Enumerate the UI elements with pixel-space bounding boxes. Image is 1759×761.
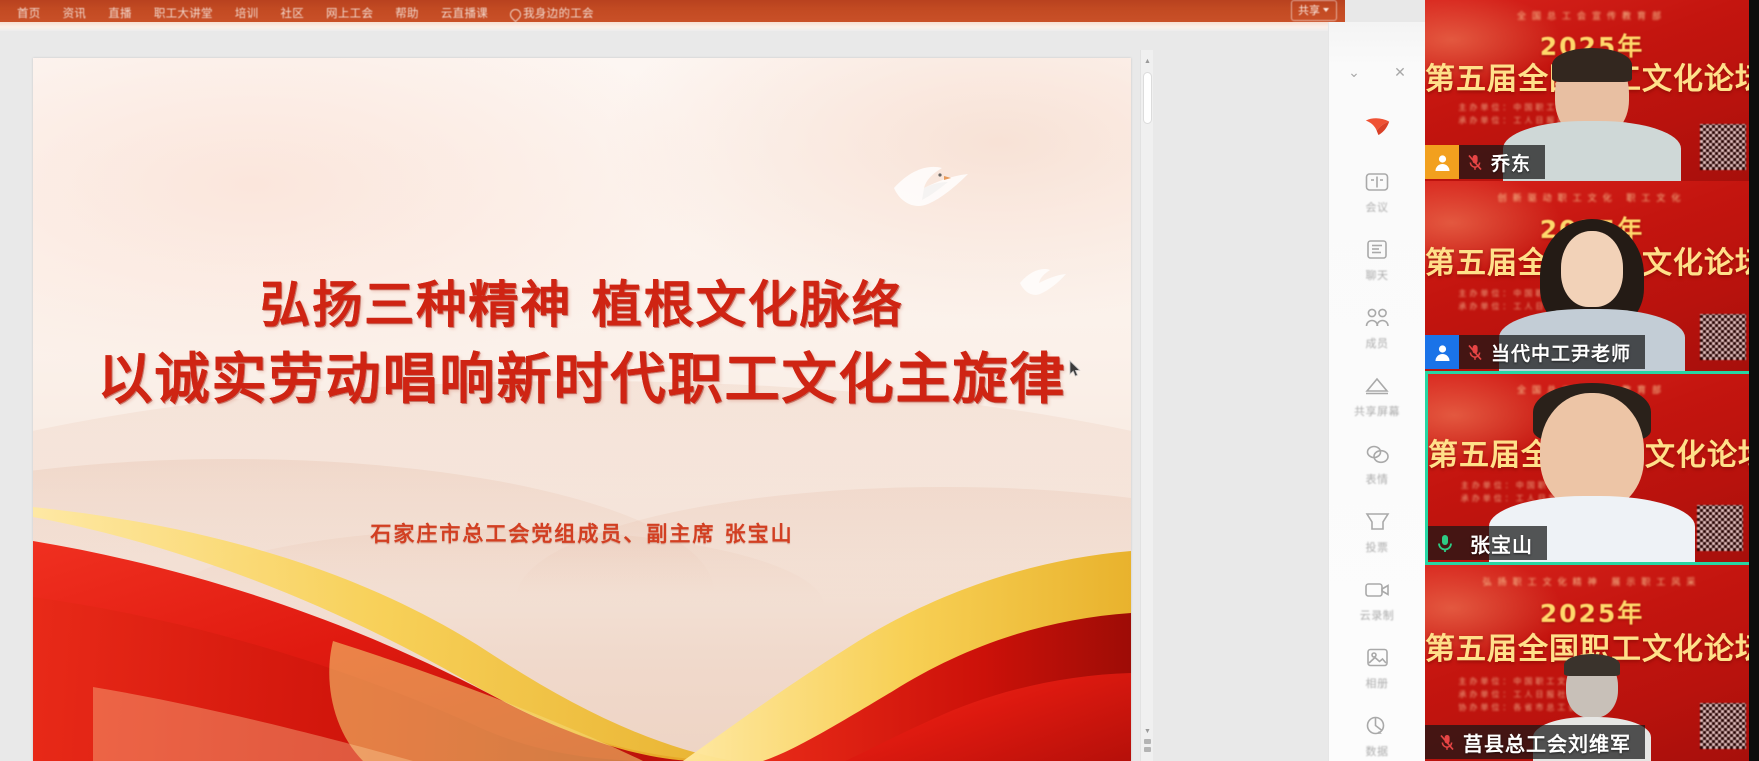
sidebar-item-reaction-label: 表情: [1366, 471, 1389, 487]
participant-tile-active-speaker[interactable]: 全国总工会宣传教育部 2025年 第五届全国职工文化论坛 主办单位：中国职工文化…: [1425, 371, 1759, 565]
sidebar-item-screen-share-label: 共享屏幕: [1354, 403, 1400, 419]
participant-nametag: 莒县总工会刘维军: [1425, 725, 1645, 759]
nav-item-4[interactable]: 培训: [224, 8, 270, 20]
scrollbar-grip-icon: [1144, 739, 1151, 755]
nav-item-1[interactable]: 资讯: [52, 8, 98, 20]
sidebar-item-stats[interactable]: 数据: [1329, 702, 1425, 761]
collapse-panel-button[interactable]: ⌄: [1345, 63, 1363, 81]
nav-item-0[interactable]: 首页: [6, 8, 52, 20]
sidebar-item-whiteboard[interactable]: 会议: [1329, 158, 1425, 226]
sidebar-item-record-label: 云录制: [1360, 607, 1395, 623]
topbar-right-group: 共享: [1291, 0, 1337, 21]
participant-tile[interactable]: 创新驱动职工文化 职工文化 2025年 第五届全国职工文化论坛 主办单位：中国职…: [1425, 181, 1759, 371]
nametag-body: 张宝山: [1462, 526, 1547, 560]
mic-muted-red-icon: [1467, 343, 1483, 361]
participant-name: 莒县总工会刘维军: [1463, 728, 1631, 757]
sidebar-item-poll[interactable]: 投票: [1329, 498, 1425, 566]
sidebar-item-participants[interactable]: 成员: [1329, 294, 1425, 362]
banner-top-text: 全国总工会宣传教育部: [1425, 9, 1759, 22]
sidebar-item-album[interactable]: 相册: [1329, 634, 1425, 702]
meeting-brand-icon: [1364, 113, 1391, 138]
participant-tile[interactable]: 弘扬职工文化精神 展示职工风采 2025年 第五届全国职工文化论坛 主办单位：中…: [1425, 565, 1759, 761]
share-button-label: 共享: [1298, 2, 1320, 18]
record-icon: [1364, 577, 1391, 602]
mouse-cursor-icon: [1069, 360, 1081, 377]
location-pin-icon: [510, 9, 519, 20]
scrollbar-thumb[interactable]: [1143, 72, 1152, 124]
stats-icon: [1364, 713, 1391, 738]
participant-nametag: 张宝山: [1428, 526, 1547, 560]
host-user-icon: [1425, 145, 1459, 179]
slide-title-line-2: 以诚实劳动唱响新时代职工文化主旋律: [33, 342, 1131, 416]
scroll-down-arrow-icon[interactable]: ▼: [1144, 728, 1151, 735]
nav-item-3[interactable]: 职工大讲堂: [143, 8, 224, 20]
share-button[interactable]: 共享: [1291, 0, 1337, 21]
sidebar-item-record[interactable]: 云录制: [1329, 566, 1425, 634]
sidebar-item-reaction[interactable]: 表情: [1329, 430, 1425, 498]
sidebar-item-poll-label: 投票: [1366, 539, 1389, 555]
sidebar-item-album-label: 相册: [1366, 675, 1389, 691]
strip-right-edge: [1749, 0, 1759, 761]
banner-top-text: 弘扬职工文化精神 展示职工风采: [1425, 575, 1759, 588]
mic-muted-red-icon: [1467, 153, 1483, 171]
mic-muted-red-icon: [1439, 733, 1455, 751]
nav-item-9[interactable]: 我身边的工会: [499, 8, 605, 20]
tool-panel-header: ⌄ ✕: [1329, 58, 1425, 86]
chevron-down-icon: [1323, 8, 1329, 12]
screen-share-icon: [1364, 373, 1391, 398]
whiteboard-icon: [1364, 169, 1391, 194]
participant-video-strip: 全国总工会宣传教育部 2025年 第五届全国职工文化论坛 主办单位：中国职工文化…: [1425, 0, 1759, 761]
dove-icon: [888, 158, 974, 216]
meeting-tool-panel: ⌄ ✕ 会议: [1328, 22, 1425, 761]
album-icon: [1364, 645, 1391, 670]
nav-item-6[interactable]: 网上工会: [315, 8, 384, 20]
mic-active-green-icon: [1428, 526, 1462, 560]
sidebar-item-document[interactable]: 聊天: [1329, 226, 1425, 294]
banner-top-text: 创新驱动职工文化 职工文化: [1425, 191, 1759, 204]
participant-tile[interactable]: 全国总工会宣传教育部 2025年 第五届全国职工文化论坛 主办单位：中国职工文化…: [1425, 0, 1759, 181]
sidebar-item-participants-label: 成员: [1366, 335, 1389, 351]
tool-panel-items: 会议 聊天 成员: [1329, 98, 1425, 761]
vertical-scrollbar[interactable]: ▲ ▼: [1140, 50, 1153, 761]
meeting-window: 首页 资讯 直播 职工大讲堂 培训 社区 网上工会 帮助 云直播课 我身边的工会…: [0, 0, 1759, 761]
presentation-slide: 弘扬三种精神 植根文化脉络 以诚实劳动唱响新时代职工文化主旋律 石家庄市总工会党…: [33, 58, 1131, 761]
sidebar-item-stats-label: 数据: [1366, 743, 1389, 759]
participants-icon: [1364, 305, 1391, 330]
nametag-body: 乔东: [1459, 145, 1545, 179]
participant-nametag: 乔东: [1425, 145, 1545, 179]
sidebar-item-brand[interactable]: [1329, 98, 1425, 158]
sidebar-item-document-label: 聊天: [1366, 267, 1389, 283]
sidebar-item-whiteboard-label: 会议: [1366, 199, 1389, 215]
user-icon: [1425, 335, 1459, 369]
slide-title-line-1: 弘扬三种精神 植根文化脉络: [33, 268, 1131, 342]
top-navigation-bar: 首页 资讯 直播 职工大讲堂 培训 社区 网上工会 帮助 云直播课 我身边的工会…: [0, 0, 1345, 22]
reaction-icon: [1364, 441, 1391, 466]
participant-name: 当代中工尹老师: [1491, 339, 1631, 366]
participant-nametag: 当代中工尹老师: [1425, 335, 1645, 369]
nav-item-7[interactable]: 帮助: [384, 8, 430, 20]
participant-name: 乔东: [1491, 149, 1531, 176]
nav-item-8[interactable]: 云直播课: [430, 8, 499, 20]
nametag-body: 当代中工尹老师: [1459, 335, 1645, 369]
poll-icon: [1364, 509, 1391, 534]
nav-item-5[interactable]: 社区: [269, 8, 315, 20]
nav-item-2[interactable]: 直播: [97, 8, 143, 20]
slide-title: 弘扬三种精神 植根文化脉络 以诚实劳动唱响新时代职工文化主旋律: [33, 268, 1131, 416]
close-panel-button[interactable]: ✕: [1391, 63, 1409, 81]
nametag-body: 莒县总工会刘维军: [1425, 725, 1645, 759]
shared-screen-area[interactable]: 弘扬三种精神 植根文化脉络 以诚实劳动唱响新时代职工文化主旋律 石家庄市总工会党…: [33, 58, 1131, 761]
participant-name: 张宝山: [1470, 529, 1533, 558]
sidebar-item-screen-share[interactable]: 共享屏幕: [1329, 362, 1425, 430]
document-icon: [1364, 237, 1391, 262]
scroll-up-arrow-icon[interactable]: ▲: [1144, 58, 1151, 65]
slide-ribbon-decoration: [33, 501, 1131, 761]
nav-item-9-label: 我身边的工会: [523, 8, 594, 20]
